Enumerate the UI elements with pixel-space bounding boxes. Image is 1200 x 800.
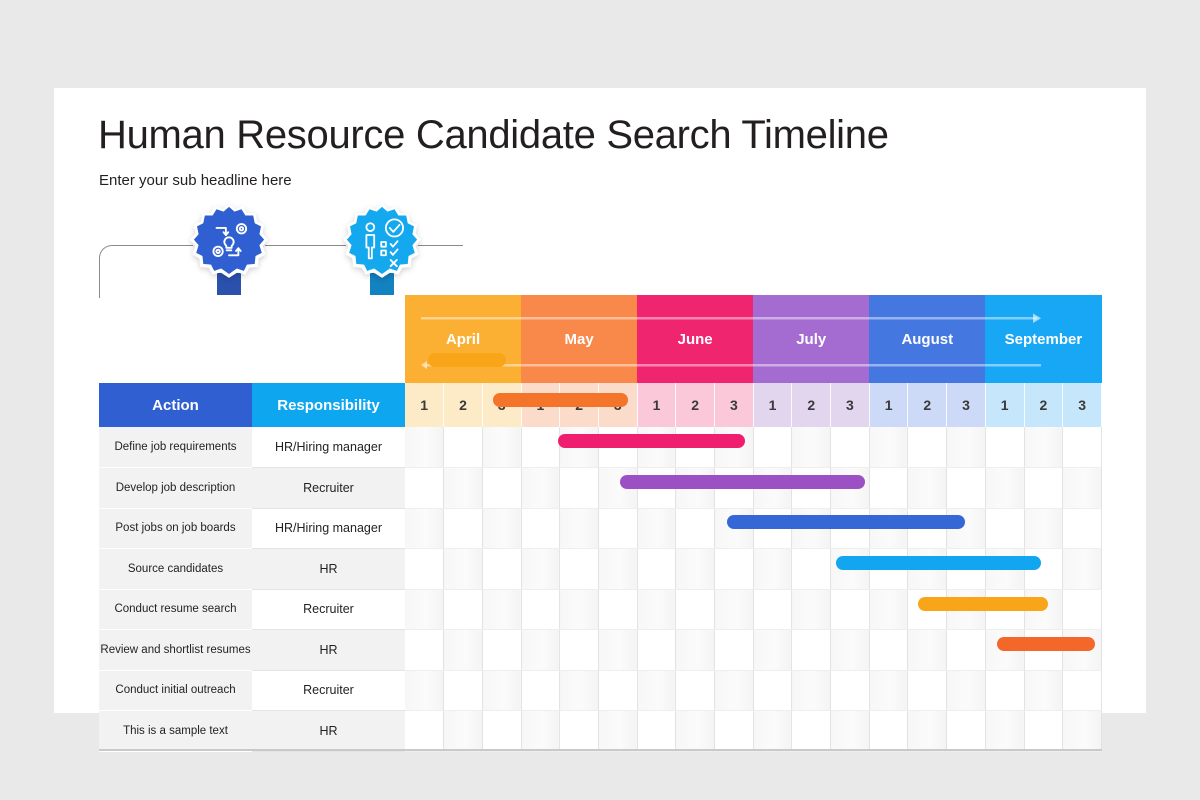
grid-cell <box>792 549 831 590</box>
task-resp-5: HR <box>252 630 405 671</box>
grid-cell <box>637 549 676 590</box>
grid-cell <box>444 711 483 752</box>
week-cell-6: 1 <box>637 383 676 427</box>
grid-cell <box>1024 589 1063 630</box>
grid-cell <box>753 711 792 752</box>
candidate-checklist-badge[interactable] <box>343 203 421 295</box>
month-header-3[interactable]: July <box>753 295 869 383</box>
grid-cell <box>908 549 947 590</box>
grid-cell <box>753 630 792 671</box>
grid-cell <box>1024 670 1063 711</box>
task-action-7: This is a sample text <box>99 711 252 752</box>
grid-cell <box>637 711 676 752</box>
grid-cell <box>792 508 831 549</box>
grid-cell <box>985 630 1024 671</box>
table-row: Conduct resume search Recruiter <box>99 589 1102 630</box>
grid-cell <box>792 630 831 671</box>
week-cell-14: 3 <box>947 383 986 427</box>
grid-cell <box>676 589 715 630</box>
grid-cell <box>405 468 444 509</box>
week-cell-13: 2 <box>908 383 947 427</box>
grid-cell <box>676 427 715 468</box>
grid-cell <box>869 589 908 630</box>
week-cell-8: 3 <box>715 383 754 427</box>
grid-cell <box>676 508 715 549</box>
grid-cell <box>521 711 560 752</box>
grid-cell <box>405 670 444 711</box>
grid-cell <box>869 468 908 509</box>
badge-spacer-action <box>99 295 252 383</box>
badge-spacer-resp <box>252 295 405 383</box>
task-action-0: Define job requirements <box>99 427 252 468</box>
grid-cell <box>831 508 870 549</box>
grid-cell <box>521 630 560 671</box>
grid-cell <box>405 589 444 630</box>
grid-cell <box>947 427 986 468</box>
month-header-2[interactable]: June <box>637 295 753 383</box>
task-action-4: Conduct resume search <box>99 589 252 630</box>
month-header-0[interactable]: April <box>405 295 521 383</box>
grid-cell <box>1024 468 1063 509</box>
grid-cell <box>482 427 521 468</box>
grid-cell <box>869 508 908 549</box>
table-row: Define job requirements HR/Hiring manage… <box>99 427 1102 468</box>
week-cell-10: 2 <box>792 383 831 427</box>
grid-cell <box>560 427 599 468</box>
table-row: Conduct initial outreach Recruiter <box>99 670 1102 711</box>
grid-cell <box>482 630 521 671</box>
task-action-6: Conduct initial outreach <box>99 670 252 711</box>
grid-cell <box>1063 427 1102 468</box>
column-header-row: Action Responsibility 1 2 3 1 2 3 1 2 3 … <box>99 383 1102 427</box>
grid-cell <box>869 711 908 752</box>
table-row: This is a sample text HR <box>99 711 1102 752</box>
grid-cell <box>637 468 676 509</box>
grid-cell <box>947 711 986 752</box>
table-row: Develop job description Recruiter <box>99 468 1102 509</box>
grid-cell <box>908 508 947 549</box>
grid-cell <box>482 711 521 752</box>
month-header-row: April May June July August September <box>99 295 1102 383</box>
grid-cell <box>1063 468 1102 509</box>
grid-cell <box>1063 670 1102 711</box>
grid-cell <box>792 427 831 468</box>
connector-line-2 <box>265 245 346 246</box>
grid-cell <box>792 711 831 752</box>
grid-cell <box>598 468 637 509</box>
grid-cell <box>1024 549 1063 590</box>
grid-cell <box>908 468 947 509</box>
grid-cell <box>1063 549 1102 590</box>
grid-cell <box>831 630 870 671</box>
connector-line-3 <box>418 245 463 246</box>
grid-cell <box>715 508 754 549</box>
grid-cell <box>831 427 870 468</box>
grid-cell <box>985 468 1024 509</box>
grid-cell <box>405 630 444 671</box>
grid-cell <box>715 427 754 468</box>
process-ideas-badge[interactable] <box>190 203 268 295</box>
grid-cell <box>908 589 947 630</box>
grid-cell <box>831 468 870 509</box>
grid-cell <box>947 468 986 509</box>
grid-cell <box>715 589 754 630</box>
grid-cell <box>715 549 754 590</box>
table-baseline <box>99 749 1102 751</box>
gears-lightbulb-icon <box>190 203 268 281</box>
grid-cell <box>1063 630 1102 671</box>
grid-cell <box>753 670 792 711</box>
grid-cell <box>715 468 754 509</box>
grid-cell <box>598 670 637 711</box>
grid-cell <box>1024 711 1063 752</box>
grid-cell <box>947 670 986 711</box>
grid-cell <box>637 508 676 549</box>
grid-cell <box>637 589 676 630</box>
grid-cell <box>560 711 599 752</box>
week-cell-4: 2 <box>560 383 599 427</box>
month-header-5[interactable]: September <box>985 295 1101 383</box>
month-header-1[interactable]: May <box>521 295 637 383</box>
grid-cell <box>560 630 599 671</box>
week-cell-11: 3 <box>831 383 870 427</box>
grid-cell <box>444 670 483 711</box>
month-header-4[interactable]: August <box>869 295 985 383</box>
grid-cell <box>560 508 599 549</box>
grid-cell <box>985 508 1024 549</box>
grid-cell <box>715 670 754 711</box>
week-cell-2: 3 <box>482 383 521 427</box>
table-row: Review and shortlist resumes HR <box>99 630 1102 671</box>
grid-cell <box>482 589 521 630</box>
header-responsibility[interactable]: Responsibility <box>252 383 405 427</box>
grid-cell <box>405 549 444 590</box>
task-resp-6: Recruiter <box>252 670 405 711</box>
grid-cell <box>1024 427 1063 468</box>
task-action-5: Review and shortlist resumes <box>99 630 252 671</box>
person-checklist-icon <box>343 203 421 281</box>
grid-cell <box>869 670 908 711</box>
week-cell-15: 1 <box>985 383 1024 427</box>
grid-cell <box>869 549 908 590</box>
grid-cell <box>444 630 483 671</box>
grid-cell <box>482 508 521 549</box>
grid-cell <box>598 508 637 549</box>
grid-cell <box>753 508 792 549</box>
page-subtitle: Enter your sub headline here <box>99 172 292 189</box>
grid-cell <box>637 630 676 671</box>
grid-cell <box>560 549 599 590</box>
grid-cell <box>753 468 792 509</box>
grid-cell <box>560 589 599 630</box>
task-resp-4: Recruiter <box>252 589 405 630</box>
task-resp-7: HR <box>252 711 405 752</box>
grid-cell <box>792 468 831 509</box>
grid-cell <box>1063 508 1102 549</box>
grid-cell <box>985 589 1024 630</box>
grid-cell <box>482 549 521 590</box>
grid-cell <box>444 468 483 509</box>
grid-cell <box>521 508 560 549</box>
grid-cell <box>831 589 870 630</box>
grid-cell <box>753 589 792 630</box>
grid-cell <box>908 711 947 752</box>
grid-cell <box>598 630 637 671</box>
grid-cell <box>598 711 637 752</box>
grid-cell <box>1024 508 1063 549</box>
task-resp-1: Recruiter <box>252 468 405 509</box>
grid-cell <box>831 549 870 590</box>
task-resp-3: HR <box>252 549 405 590</box>
timeline-table: April May June July August September <box>99 295 1102 752</box>
grid-cell <box>715 630 754 671</box>
grid-cell <box>637 427 676 468</box>
grid-cell <box>985 549 1024 590</box>
task-resp-2: HR/Hiring manager <box>252 508 405 549</box>
grid-cell <box>676 549 715 590</box>
week-cell-1: 2 <box>444 383 483 427</box>
grid-cell <box>598 589 637 630</box>
grid-cell <box>521 549 560 590</box>
task-action-2: Post jobs on job boards <box>99 508 252 549</box>
grid-cell <box>985 711 1024 752</box>
table-row: Post jobs on job boards HR/Hiring manage… <box>99 508 1102 549</box>
grid-cell <box>947 508 986 549</box>
week-cell-7: 2 <box>676 383 715 427</box>
grid-cell <box>444 549 483 590</box>
grid-cell <box>598 549 637 590</box>
week-cell-12: 1 <box>869 383 908 427</box>
grid-cell <box>676 630 715 671</box>
grid-cell <box>405 711 444 752</box>
week-cell-16: 2 <box>1024 383 1063 427</box>
grid-cell <box>521 427 560 468</box>
grid-cell <box>908 427 947 468</box>
grid-cell <box>637 670 676 711</box>
grid-cell <box>598 427 637 468</box>
grid-cell <box>405 427 444 468</box>
slide-canvas: Human Resource Candidate Search Timeline… <box>54 88 1146 713</box>
grid-cell <box>676 468 715 509</box>
grid-cell <box>792 589 831 630</box>
header-action[interactable]: Action <box>99 383 252 427</box>
grid-cell <box>676 670 715 711</box>
grid-cell <box>405 508 444 549</box>
grid-cell <box>560 468 599 509</box>
week-cell-3: 1 <box>521 383 560 427</box>
grid-cell <box>521 468 560 509</box>
grid-cell <box>715 711 754 752</box>
task-resp-0: HR/Hiring manager <box>252 427 405 468</box>
grid-cell <box>947 630 986 671</box>
grid-cell <box>1063 711 1102 752</box>
task-action-3: Source candidates <box>99 549 252 590</box>
week-cell-17: 3 <box>1063 383 1102 427</box>
grid-cell <box>444 427 483 468</box>
grid-cell <box>753 427 792 468</box>
week-cell-0: 1 <box>405 383 444 427</box>
grid-cell <box>521 670 560 711</box>
grid-cell <box>831 670 870 711</box>
grid-cell <box>482 468 521 509</box>
table-row: Source candidates HR <box>99 549 1102 590</box>
grid-cell <box>1063 589 1102 630</box>
grid-cell <box>753 549 792 590</box>
grid-cell <box>831 711 870 752</box>
connector-elbow <box>99 245 141 298</box>
badge-row <box>54 203 1146 295</box>
grid-cell <box>792 670 831 711</box>
grid-cell <box>985 427 1024 468</box>
page-title: Human Resource Candidate Search Timeline <box>98 113 889 158</box>
grid-cell <box>676 711 715 752</box>
grid-cell <box>521 589 560 630</box>
grid-cell <box>908 630 947 671</box>
grid-cell <box>560 670 599 711</box>
grid-cell <box>444 589 483 630</box>
grid-cell <box>908 670 947 711</box>
grid-cell <box>985 670 1024 711</box>
week-cell-9: 1 <box>753 383 792 427</box>
connector-line-1 <box>141 245 193 246</box>
grid-cell <box>869 630 908 671</box>
grid-cell <box>947 589 986 630</box>
grid-cell <box>444 508 483 549</box>
grid-cell <box>947 549 986 590</box>
task-action-1: Develop job description <box>99 468 252 509</box>
grid-cell <box>482 670 521 711</box>
grid-cell <box>869 427 908 468</box>
week-cell-5: 3 <box>598 383 637 427</box>
grid-cell <box>1024 630 1063 671</box>
